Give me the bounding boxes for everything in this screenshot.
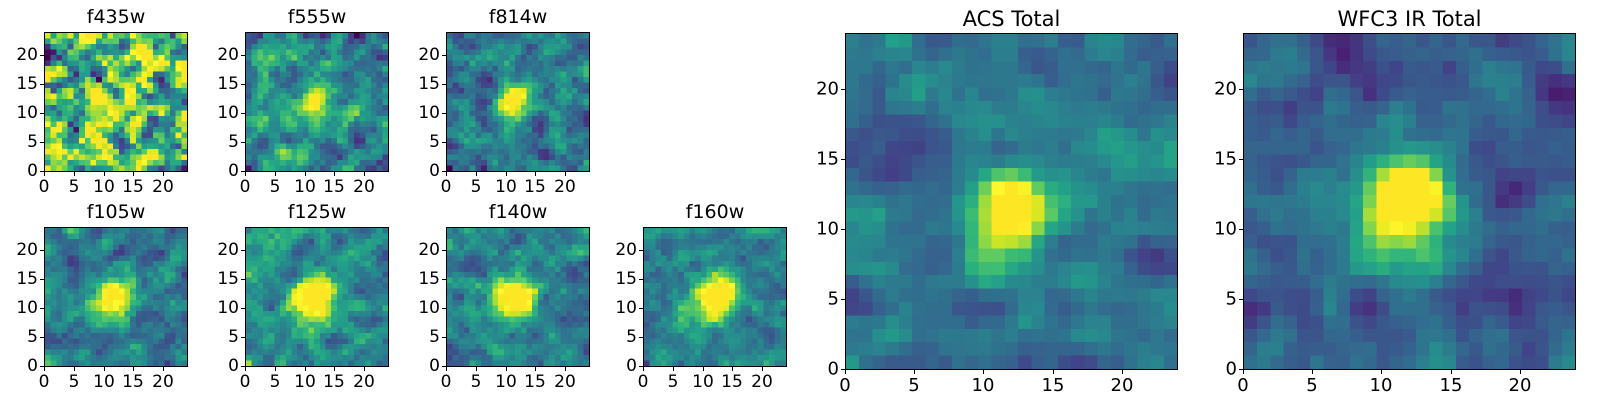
xtick-label-f814w-0: 0 [441,177,452,197]
xtick-label-f555w-5: 5 [270,177,281,197]
ytick-f435w-10 [40,113,44,114]
xtick-f125w-5 [275,367,276,371]
xtick-label-f555w-15: 15 [323,177,345,197]
xtick-wfc3-ir-total-15 [1451,370,1452,374]
xtick-label-f435w-0: 0 [39,177,50,197]
ytick-f435w-20 [40,55,44,56]
ytick-label-wfc3-ir-total-0: 0 [1226,359,1237,380]
xtick-label-f160w-15: 15 [721,372,743,392]
ytick-label-acs-total-20: 20 [816,79,839,100]
ytick-f105w-10 [40,308,44,309]
xtick-label-f814w-10: 10 [495,177,517,197]
panel-title-f435w: f435w [44,6,188,28]
xtick-label-wfc3-ir-total-20: 20 [1509,375,1532,396]
ytick-wfc3-ir-total-10 [1239,229,1243,230]
ytick-f814w-10 [442,113,446,114]
xtick-f160w-5 [673,367,674,371]
xtick-acs-total-0 [845,370,846,374]
ytick-label-f435w-15: 15 [16,74,38,94]
xtick-label-f125w-20: 20 [353,372,375,392]
ytick-label-wfc3-ir-total-10: 10 [1214,219,1237,240]
ytick-f555w-20 [241,55,245,56]
xtick-f435w-15 [133,172,134,176]
xtick-wfc3-ir-total-20 [1520,370,1521,374]
panel-title-wfc3-ir-total: WFC3 IR Total [1243,7,1576,31]
ytick-label-f814w-10: 10 [418,103,440,123]
xtick-label-acs-total-5: 5 [908,375,919,396]
xtick-label-f105w-10: 10 [93,372,115,392]
ytick-wfc3-ir-total-20 [1239,89,1243,90]
ytick-label-f125w-20: 20 [217,240,239,260]
panel-title-f105w: f105w [44,201,188,223]
heatmap-canvas-f140w [447,228,589,366]
xtick-label-f435w-20: 20 [152,177,174,197]
ytick-label-f555w-20: 20 [217,45,239,65]
xtick-label-f140w-15: 15 [524,372,546,392]
xtick-f555w-15 [334,172,335,176]
xtick-label-wfc3-ir-total-0: 0 [1237,375,1248,396]
ytick-f160w-10 [639,308,643,309]
panel-f555w: f555w0510152005101520 [245,6,389,202]
ytick-f125w-10 [241,308,245,309]
heatmap-f105w [44,227,188,367]
ytick-label-acs-total-10: 10 [816,219,839,240]
xtick-acs-total-10 [983,370,984,374]
xtick-f125w-15 [334,367,335,371]
panel-f140w: f140w0510152005101520 [446,201,590,397]
ytick-label-f435w-0: 0 [27,161,38,181]
xtick-f105w-20 [163,367,164,371]
ytick-f555w-15 [241,84,245,85]
panel-f105w: f105w0510152005101520 [44,201,188,397]
ytick-f140w-10 [442,308,446,309]
panel-wfc3-ir-total: WFC3 IR Total0510152005101520 [1243,7,1576,400]
heatmap-acs-total [845,33,1178,370]
xtick-f105w-10 [104,367,105,371]
xtick-label-f105w-15: 15 [122,372,144,392]
ytick-label-f555w-15: 15 [217,74,239,94]
xtick-wfc3-ir-total-10 [1381,370,1382,374]
panel-f125w: f125w0510152005101520 [245,201,389,397]
xtick-label-f814w-5: 5 [471,177,482,197]
xtick-acs-total-20 [1122,370,1123,374]
ytick-acs-total-5 [841,299,845,300]
xtick-wfc3-ir-total-0 [1243,370,1244,374]
xtick-label-wfc3-ir-total-5: 5 [1306,375,1317,396]
ytick-label-wfc3-ir-total-5: 5 [1226,289,1237,310]
ytick-label-f140w-15: 15 [418,269,440,289]
ytick-f814w-20 [442,55,446,56]
xtick-f555w-20 [364,172,365,176]
ytick-wfc3-ir-total-0 [1239,369,1243,370]
ytick-label-f140w-20: 20 [418,240,440,260]
ytick-f105w-15 [40,279,44,280]
ytick-label-f160w-0: 0 [626,356,637,376]
ytick-f160w-5 [639,337,643,338]
xtick-label-f125w-15: 15 [323,372,345,392]
ytick-f814w-15 [442,84,446,85]
xtick-label-wfc3-ir-total-15: 15 [1440,375,1463,396]
xtick-f814w-10 [506,172,507,176]
panel-title-acs-total: ACS Total [845,7,1178,31]
xtick-label-f125w-0: 0 [240,372,251,392]
figure-canvas: f435w0510152005101520f555w05101520051015… [0,0,1600,400]
ytick-label-f555w-0: 0 [228,161,239,181]
ytick-label-f105w-15: 15 [16,269,38,289]
heatmap-f555w [245,32,389,172]
xtick-f160w-15 [732,367,733,371]
ytick-label-f105w-5: 5 [27,327,38,347]
ytick-label-f140w-5: 5 [429,327,440,347]
xtick-f814w-15 [535,172,536,176]
panel-title-f125w: f125w [245,201,389,223]
ytick-label-f814w-15: 15 [418,74,440,94]
ytick-acs-total-10 [841,229,845,230]
xtick-f435w-20 [163,172,164,176]
ytick-f125w-15 [241,279,245,280]
xtick-label-acs-total-20: 20 [1111,375,1134,396]
ytick-label-f814w-0: 0 [429,161,440,181]
xtick-f105w-5 [74,367,75,371]
xtick-f555w-5 [275,172,276,176]
xtick-label-f555w-10: 10 [294,177,316,197]
heatmap-canvas-f105w [45,228,187,366]
heatmap-canvas-f435w [45,33,187,171]
xtick-f140w-5 [476,367,477,371]
heatmap-canvas-acs-total [846,34,1177,369]
xtick-label-f435w-5: 5 [69,177,80,197]
panel-title-f140w: f140w [446,201,590,223]
xtick-label-f140w-10: 10 [495,372,517,392]
panel-f814w: f814w0510152005101520 [446,6,590,202]
xtick-acs-total-15 [1053,370,1054,374]
ytick-label-f814w-20: 20 [418,45,440,65]
xtick-label-f160w-10: 10 [692,372,714,392]
xtick-label-f140w-5: 5 [471,372,482,392]
ytick-f105w-20 [40,250,44,251]
ytick-label-f105w-20: 20 [16,240,38,260]
xtick-f555w-0 [245,172,246,176]
heatmap-canvas-f555w [246,33,388,171]
ytick-acs-total-0 [841,369,845,370]
panel-title-f160w: f160w [643,201,787,223]
heatmap-wfc3-ir-total [1243,33,1576,370]
xtick-label-f160w-0: 0 [638,372,649,392]
ytick-label-acs-total-0: 0 [828,359,839,380]
ytick-label-f435w-20: 20 [16,45,38,65]
xtick-f140w-15 [535,367,536,371]
ytick-f140w-0 [442,366,446,367]
heatmap-canvas-f814w [447,33,589,171]
ytick-wfc3-ir-total-15 [1239,159,1243,160]
ytick-label-f105w-0: 0 [27,356,38,376]
xtick-label-f105w-20: 20 [152,372,174,392]
xtick-label-f140w-0: 0 [441,372,452,392]
ytick-f814w-5 [442,142,446,143]
xtick-label-f160w-5: 5 [668,372,679,392]
ytick-label-f125w-15: 15 [217,269,239,289]
xtick-f140w-10 [506,367,507,371]
ytick-label-f555w-10: 10 [217,103,239,123]
ytick-f160w-15 [639,279,643,280]
panel-title-f814w: f814w [446,6,590,28]
xtick-label-f105w-0: 0 [39,372,50,392]
xtick-label-f555w-20: 20 [353,177,375,197]
xtick-wfc3-ir-total-5 [1312,370,1313,374]
ytick-f435w-15 [40,84,44,85]
xtick-f435w-5 [74,172,75,176]
ytick-label-f555w-5: 5 [228,132,239,152]
ytick-label-f125w-10: 10 [217,298,239,318]
ytick-f435w-5 [40,142,44,143]
xtick-label-f814w-15: 15 [524,177,546,197]
ytick-label-f435w-10: 10 [16,103,38,123]
ytick-f555w-10 [241,113,245,114]
panel-acs-total: ACS Total0510152005101520 [845,7,1178,400]
ytick-label-f160w-20: 20 [615,240,637,260]
panel-f160w: f160w0510152005101520 [643,201,787,397]
xtick-f160w-20 [762,367,763,371]
xtick-label-acs-total-15: 15 [1042,375,1065,396]
xtick-f814w-20 [565,172,566,176]
xtick-label-f814w-20: 20 [554,177,576,197]
ytick-f105w-0 [40,366,44,367]
ytick-label-f125w-5: 5 [228,327,239,347]
ytick-label-f160w-5: 5 [626,327,637,347]
xtick-f140w-20 [565,367,566,371]
ytick-label-f435w-5: 5 [27,132,38,152]
heatmap-canvas-f160w [644,228,786,366]
ytick-label-acs-total-5: 5 [828,289,839,310]
ytick-label-f814w-5: 5 [429,132,440,152]
ytick-f140w-15 [442,279,446,280]
ytick-label-f160w-15: 15 [615,269,637,289]
ytick-f125w-5 [241,337,245,338]
ytick-label-f140w-0: 0 [429,356,440,376]
ytick-label-f140w-10: 10 [418,298,440,318]
ytick-f160w-0 [639,366,643,367]
ytick-f555w-0 [241,171,245,172]
xtick-f435w-0 [44,172,45,176]
heatmap-f814w [446,32,590,172]
heatmap-canvas-wfc3-ir-total [1244,34,1575,369]
xtick-label-f105w-5: 5 [69,372,80,392]
xtick-f125w-0 [245,367,246,371]
ytick-f555w-5 [241,142,245,143]
heatmap-f160w [643,227,787,367]
heatmap-canvas-f125w [246,228,388,366]
xtick-label-wfc3-ir-total-10: 10 [1370,375,1393,396]
xtick-f105w-15 [133,367,134,371]
ytick-label-wfc3-ir-total-15: 15 [1214,149,1237,170]
xtick-label-f160w-20: 20 [751,372,773,392]
ytick-acs-total-20 [841,89,845,90]
xtick-label-f435w-10: 10 [93,177,115,197]
ytick-label-wfc3-ir-total-20: 20 [1214,79,1237,100]
panel-title-f555w: f555w [245,6,389,28]
ytick-f160w-20 [639,250,643,251]
ytick-label-f160w-10: 10 [615,298,637,318]
xtick-label-acs-total-10: 10 [972,375,995,396]
xtick-f555w-10 [305,172,306,176]
ytick-wfc3-ir-total-5 [1239,299,1243,300]
xtick-label-f125w-5: 5 [270,372,281,392]
xtick-acs-total-5 [914,370,915,374]
ytick-label-f105w-10: 10 [16,298,38,318]
ytick-f125w-20 [241,250,245,251]
ytick-f814w-0 [442,171,446,172]
ytick-f140w-20 [442,250,446,251]
ytick-f435w-0 [40,171,44,172]
xtick-f160w-0 [643,367,644,371]
xtick-f125w-20 [364,367,365,371]
ytick-label-acs-total-15: 15 [816,149,839,170]
ytick-acs-total-15 [841,159,845,160]
ytick-f105w-5 [40,337,44,338]
heatmap-f125w [245,227,389,367]
xtick-f814w-5 [476,172,477,176]
xtick-label-f555w-0: 0 [240,177,251,197]
xtick-label-f435w-15: 15 [122,177,144,197]
xtick-f105w-0 [44,367,45,371]
xtick-f125w-10 [305,367,306,371]
ytick-f140w-5 [442,337,446,338]
ytick-f125w-0 [241,366,245,367]
xtick-f435w-10 [104,172,105,176]
xtick-f140w-0 [446,367,447,371]
ytick-label-f125w-0: 0 [228,356,239,376]
heatmap-f140w [446,227,590,367]
xtick-label-f125w-10: 10 [294,372,316,392]
xtick-f814w-0 [446,172,447,176]
xtick-f160w-10 [703,367,704,371]
panel-f435w: f435w0510152005101520 [44,6,188,202]
heatmap-f435w [44,32,188,172]
xtick-label-f140w-20: 20 [554,372,576,392]
xtick-label-acs-total-0: 0 [839,375,850,396]
